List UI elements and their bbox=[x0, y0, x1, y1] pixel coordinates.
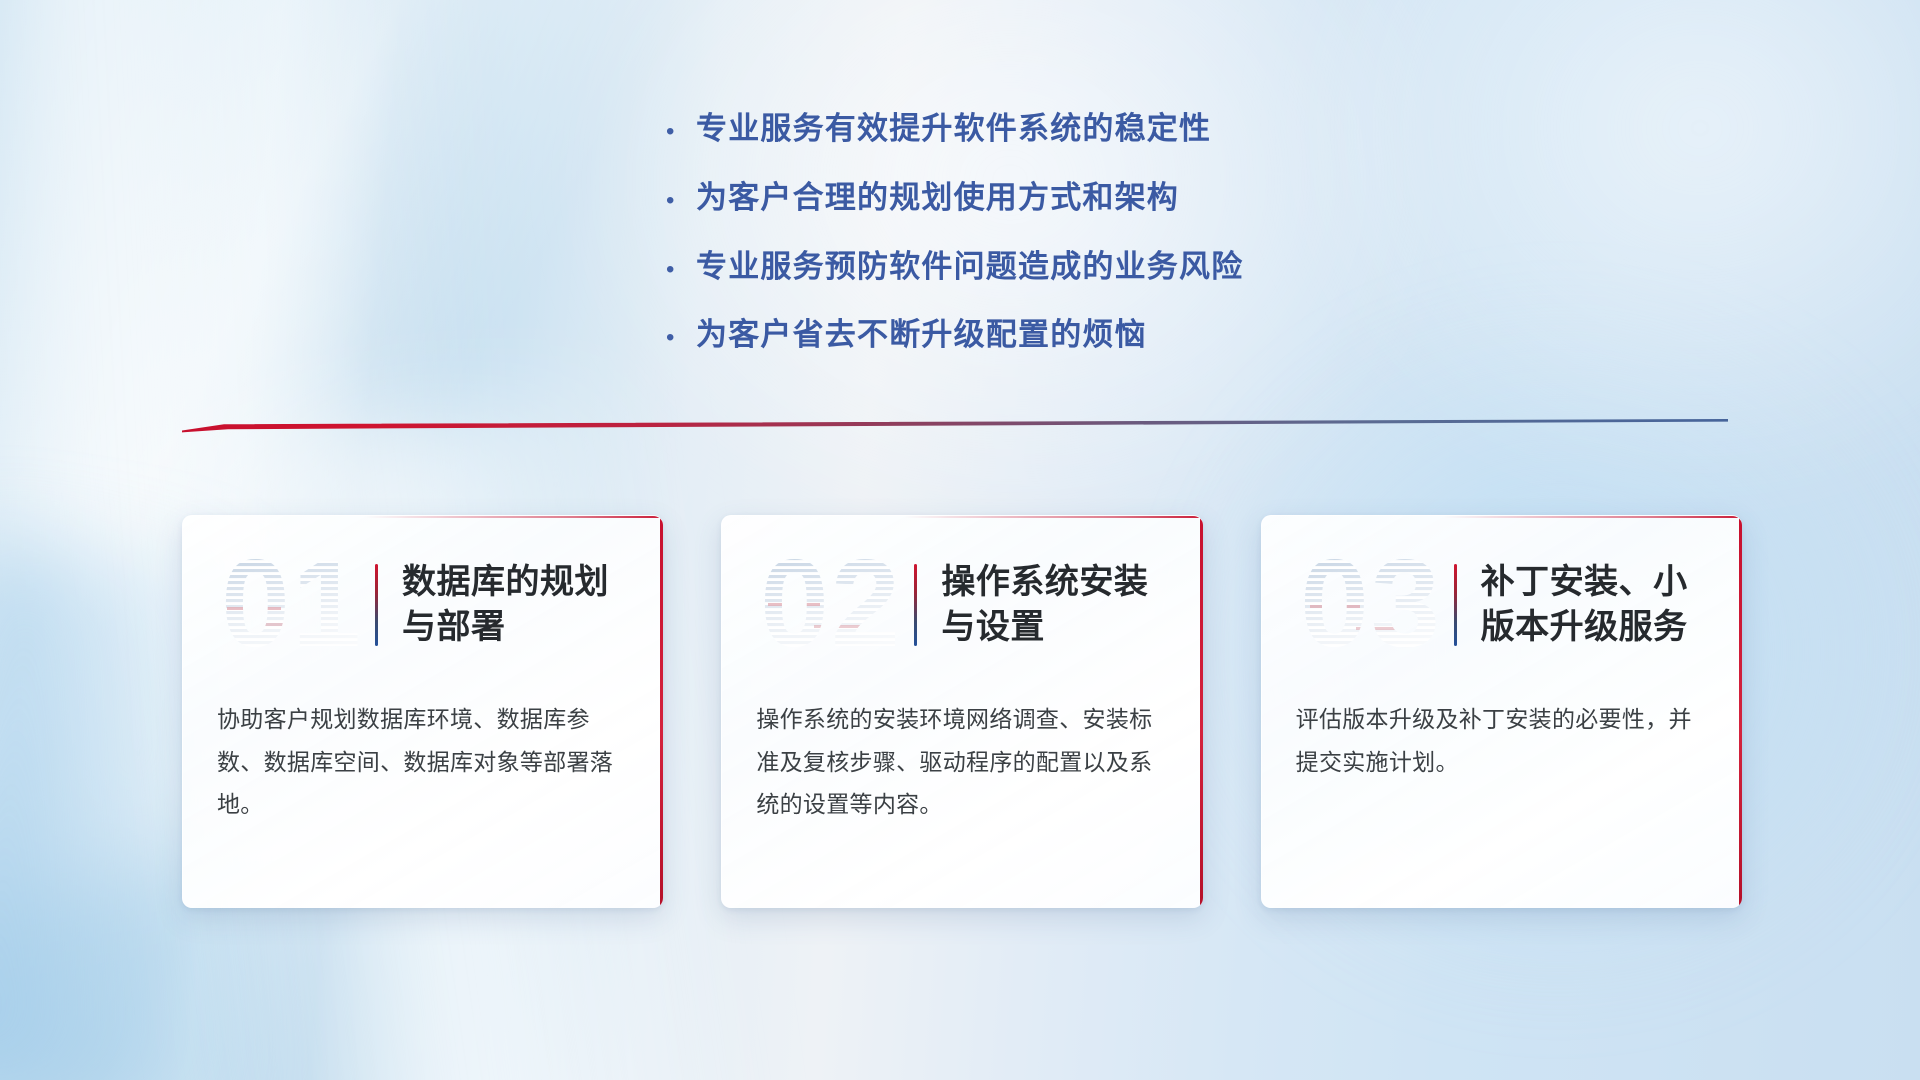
bullet-item-label: 为客户合理的规划使用方式和架构 bbox=[696, 179, 1179, 218]
service-card-row: 01 数据库的规划与部署 协助客户规划数据库环境、数据库参数、数据库空间 bbox=[182, 515, 1742, 915]
section-divider bbox=[182, 418, 1728, 436]
card-header: 03 补丁安装、小版本升级服务 bbox=[1262, 516, 1742, 694]
card-header: 01 数据库的规划与部署 bbox=[183, 516, 663, 694]
card-accent-divider bbox=[914, 564, 917, 646]
card-accent-divider bbox=[375, 564, 378, 646]
list-item: • 为客户合理的规划使用方式和架构 bbox=[660, 179, 1380, 218]
benefits-bullet-list: • 专业服务有效提升软件系统的稳定性 • 为客户合理的规划使用方式和架构 • 专… bbox=[660, 110, 1380, 385]
card-description: 协助客户规划数据库环境、数据库参数、数据库空间、数据库对象等部署落地。 bbox=[183, 694, 663, 826]
striped-number-icon: 03 bbox=[1296, 545, 1444, 665]
card-title: 数据库的规划与部署 bbox=[402, 560, 637, 650]
card-title: 操作系统安装与设置 bbox=[941, 560, 1176, 650]
bullet-dot-icon: • bbox=[660, 258, 696, 282]
card-description: 评估版本升级及补丁安装的必要性，并提交实施计划。 bbox=[1262, 694, 1742, 783]
bullet-dot-icon: • bbox=[660, 120, 696, 144]
bullet-dot-icon: • bbox=[660, 326, 696, 350]
card-title: 补丁安装、小版本升级服务 bbox=[1481, 560, 1716, 650]
bullet-item-label: 专业服务有效提升软件系统的稳定性 bbox=[696, 110, 1211, 149]
bullet-dot-icon: • bbox=[660, 189, 696, 213]
card-description: 操作系统的安装环境网络调查、安装标准及复核步骤、驱动程序的配置以及系统的设置等内… bbox=[722, 694, 1202, 826]
slide-canvas: • 专业服务有效提升软件系统的稳定性 • 为客户合理的规划使用方式和架构 • 专… bbox=[0, 0, 1920, 1080]
list-item: • 为客户省去不断升级配置的烦恼 bbox=[660, 316, 1380, 355]
card-number-02-graphic: 02 bbox=[756, 545, 904, 665]
striped-number-icon: 02 bbox=[756, 545, 904, 665]
card-number-03-graphic: 03 bbox=[1296, 545, 1444, 665]
bullet-item-label: 为客户省去不断升级配置的烦恼 bbox=[696, 316, 1147, 355]
striped-number-icon: 01 bbox=[217, 545, 365, 665]
list-item: • 专业服务预防软件问题造成的业务风险 bbox=[660, 248, 1380, 287]
card-header: 02 操作系统安装与设置 bbox=[722, 516, 1202, 694]
divider-taper-shape bbox=[182, 418, 1728, 436]
card-number-01-graphic: 01 bbox=[217, 545, 365, 665]
service-card-03[interactable]: 03 补丁安装、小版本升级服务 评估版本升级及补丁安装的必要性，并提交实 bbox=[1261, 515, 1742, 908]
card-accent-divider bbox=[1454, 564, 1457, 646]
service-card-01[interactable]: 01 数据库的规划与部署 协助客户规划数据库环境、数据库参数、数据库空间 bbox=[182, 515, 663, 908]
service-card-02[interactable]: 02 操作系统安装与设置 操作系统的安装环境网络调查、安装标准及复核步骤 bbox=[721, 515, 1202, 908]
bullet-item-label: 专业服务预防软件问题造成的业务风险 bbox=[696, 248, 1243, 287]
list-item: • 专业服务有效提升软件系统的稳定性 bbox=[660, 110, 1380, 149]
